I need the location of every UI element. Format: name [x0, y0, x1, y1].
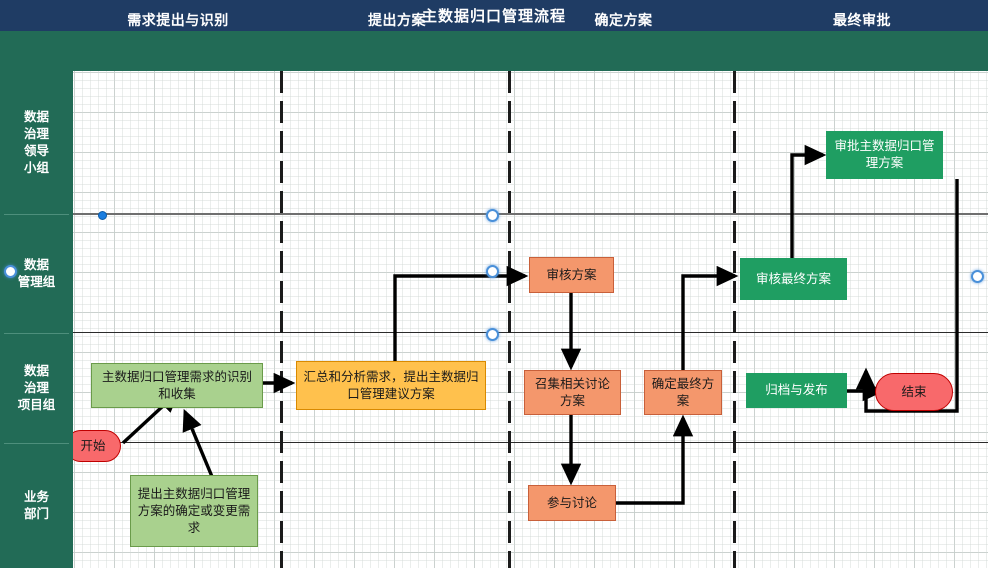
phase-divider-2[interactable]: [508, 71, 511, 568]
lane-label-0[interactable]: 数据 治理 领导 小组: [0, 71, 73, 214]
selection-handle-right[interactable]: [971, 270, 984, 283]
edge-request-to-collect: [185, 412, 213, 479]
lane-label-separator-2: [4, 333, 69, 334]
node-review[interactable]: 审核方案: [529, 257, 614, 293]
phase-label-0[interactable]: 需求提出与识别: [73, 0, 283, 40]
node-request[interactable]: 提出主数据归口管理方案的确定或变更需求: [130, 475, 258, 547]
node-approve[interactable]: 审批主数据归口管理方案: [826, 131, 943, 179]
flowchart-canvas[interactable]: 开始主数据归口管理需求的识别和收集提出主数据归口管理方案的确定或变更需求汇总和分…: [73, 71, 988, 568]
node-end[interactable]: 结束: [875, 373, 953, 411]
lane-label-separator-3: [4, 443, 69, 444]
phase-label-3[interactable]: 最终审批: [736, 0, 988, 40]
edge-finalize-to-finalreview: [683, 276, 735, 370]
lane-divider-2[interactable]: [73, 332, 988, 333]
phase-divider-3[interactable]: [733, 71, 736, 568]
node-finalrev[interactable]: 审核最终方案: [740, 258, 847, 300]
selection-handle-mid-2[interactable]: [486, 328, 499, 341]
edge-finalreview-to-approve: [792, 155, 823, 258]
edge-discuss-to-finalize: [616, 418, 683, 503]
node-finalize[interactable]: 确定最终方案: [644, 370, 722, 415]
lane-label-separator-1: [4, 214, 69, 215]
lane-divider-3[interactable]: [73, 442, 988, 443]
lane-divider-1[interactable]: [73, 213, 988, 215]
node-archive[interactable]: 归档与发布: [746, 373, 847, 408]
selection-handle-mid-3[interactable]: [486, 265, 499, 278]
node-analyze[interactable]: 汇总和分析需求，提出主数据归口管理建议方案: [296, 361, 486, 410]
lane-label-2[interactable]: 数据 治理 项目组: [0, 333, 73, 443]
node-collect[interactable]: 主数据归口管理需求的识别和收集: [91, 363, 263, 408]
selection-handle-left[interactable]: [98, 211, 107, 220]
lane-label-3[interactable]: 业务 部门: [0, 443, 73, 568]
phase-label-2[interactable]: 确定方案: [511, 0, 736, 40]
node-start[interactable]: 开始: [73, 430, 121, 462]
node-discuss[interactable]: 参与讨论: [528, 485, 616, 521]
phase-label-1[interactable]: 提出方案: [283, 0, 511, 40]
phase-divider-1[interactable]: [280, 71, 283, 568]
swimlane-diagram-canvas: 主数据归口管理流程 需求提出与识别提出方案确定方案最终审批 数据 治理 领导 小…: [0, 0, 988, 568]
node-convene[interactable]: 召集相关讨论方案: [524, 370, 621, 415]
selection-handle-mid-1[interactable]: [486, 209, 499, 222]
selection-handle-lane[interactable]: [4, 265, 17, 278]
